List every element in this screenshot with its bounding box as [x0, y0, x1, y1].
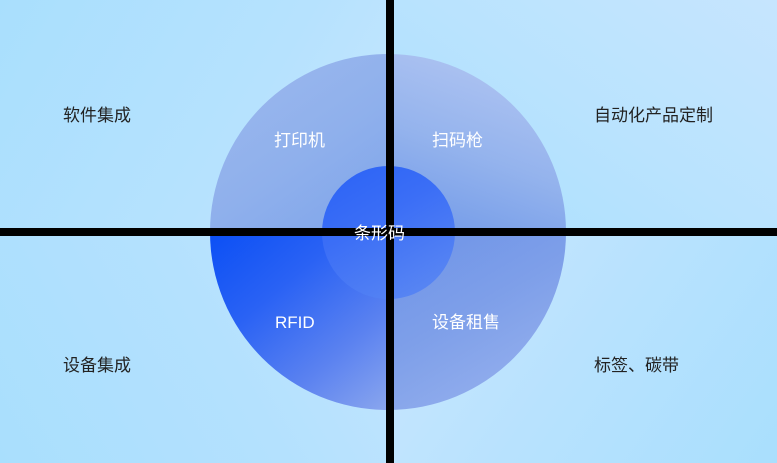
sector-label-printer: 打印机 — [274, 132, 325, 149]
outer-label-software-integration: 软件集成 — [63, 107, 131, 124]
core-label-barcode: 条形码 — [354, 225, 405, 242]
outer-label-labels-ribbons: 标签、碳带 — [594, 357, 679, 374]
sector-label-rfid: RFID — [275, 314, 315, 331]
diagram-canvas: 软件集成 自动化产品定制 设备集成 标签、碳带 打印机 扫码枪 RFID 设备租… — [0, 0, 777, 463]
outer-label-automation-customization: 自动化产品定制 — [594, 107, 713, 124]
sector-label-equipment-rental: 设备租售 — [432, 314, 500, 331]
outer-label-equipment-integration: 设备集成 — [63, 357, 131, 374]
sector-label-scanner: 扫码枪 — [432, 132, 483, 149]
